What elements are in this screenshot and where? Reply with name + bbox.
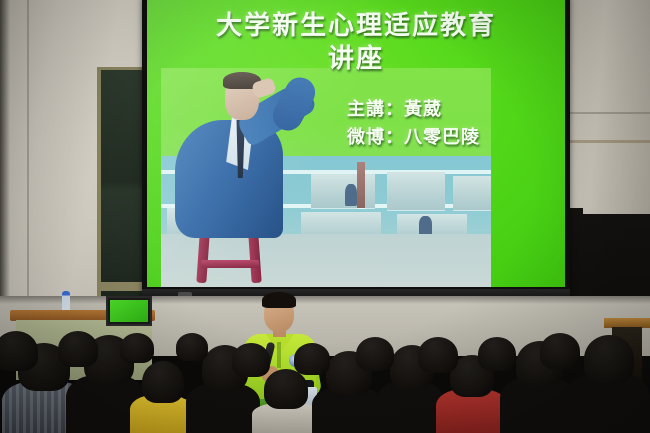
- presentation-slide: 大学新生心理适应教育 讲座 主講：黃葳 微博：八零巴陵: [147, 0, 565, 287]
- maze-worker: [419, 216, 432, 236]
- left-wall-seam: [27, 0, 29, 300]
- audience-member-head: [356, 337, 394, 371]
- audience-member-head: [264, 369, 308, 409]
- audience-member-head: [418, 337, 458, 373]
- audience-member-head: [232, 343, 270, 377]
- left-wall-edge-shadow: [0, 0, 10, 300]
- slide-title-line-1: 大学新生心理适应教育: [216, 11, 496, 41]
- audience-member-head: [478, 337, 516, 371]
- audience-member-head: [584, 335, 634, 383]
- slide-presenter-row: 主講：黃葳: [319, 96, 549, 124]
- slide-weibo-row: 微博：八零巴陵: [319, 124, 549, 152]
- audience-member-head: [540, 333, 580, 369]
- projection-screen: 大学新生心理适应教育 讲座 主講：黃葳 微博：八零巴陵: [142, 0, 570, 302]
- maze-worker: [345, 184, 357, 206]
- right-wall-seam-lower: [565, 140, 650, 143]
- audience-member-head: [58, 331, 98, 367]
- right-wall: [565, 0, 650, 222]
- slide-title-line-2: 讲座: [147, 43, 565, 76]
- ladder-step: [201, 260, 259, 268]
- lecture-hall-photo: 大学新生心理适应教育 讲座 主講：黃葳 微博：八零巴陵: [0, 0, 650, 433]
- monitor-screen: [110, 300, 148, 322]
- audience: [0, 330, 650, 433]
- audience-member-head: [294, 343, 330, 375]
- slide-title: 大学新生心理适应教育 讲座: [147, 10, 565, 77]
- audience-member-head: [176, 333, 208, 361]
- front-wall-shadow: [0, 296, 650, 304]
- maze-wall: [311, 174, 375, 208]
- presenter-hair: [262, 292, 296, 308]
- maze-post: [357, 162, 365, 208]
- audience-member-head: [0, 331, 38, 371]
- slide-subtitle-block: 主講：黃葳 微博：八零巴陵: [319, 96, 549, 152]
- maze-wall: [453, 176, 491, 210]
- audience-member-head: [120, 333, 154, 363]
- audience-member-head: [142, 361, 184, 403]
- maze-wall: [387, 172, 445, 210]
- water-bottle: [62, 291, 70, 311]
- right-wall-seam-upper: [565, 112, 650, 114]
- blackboard-left: [97, 67, 145, 302]
- blackboard-chalk-rail: [97, 282, 147, 291]
- confidence-monitor: [106, 296, 152, 326]
